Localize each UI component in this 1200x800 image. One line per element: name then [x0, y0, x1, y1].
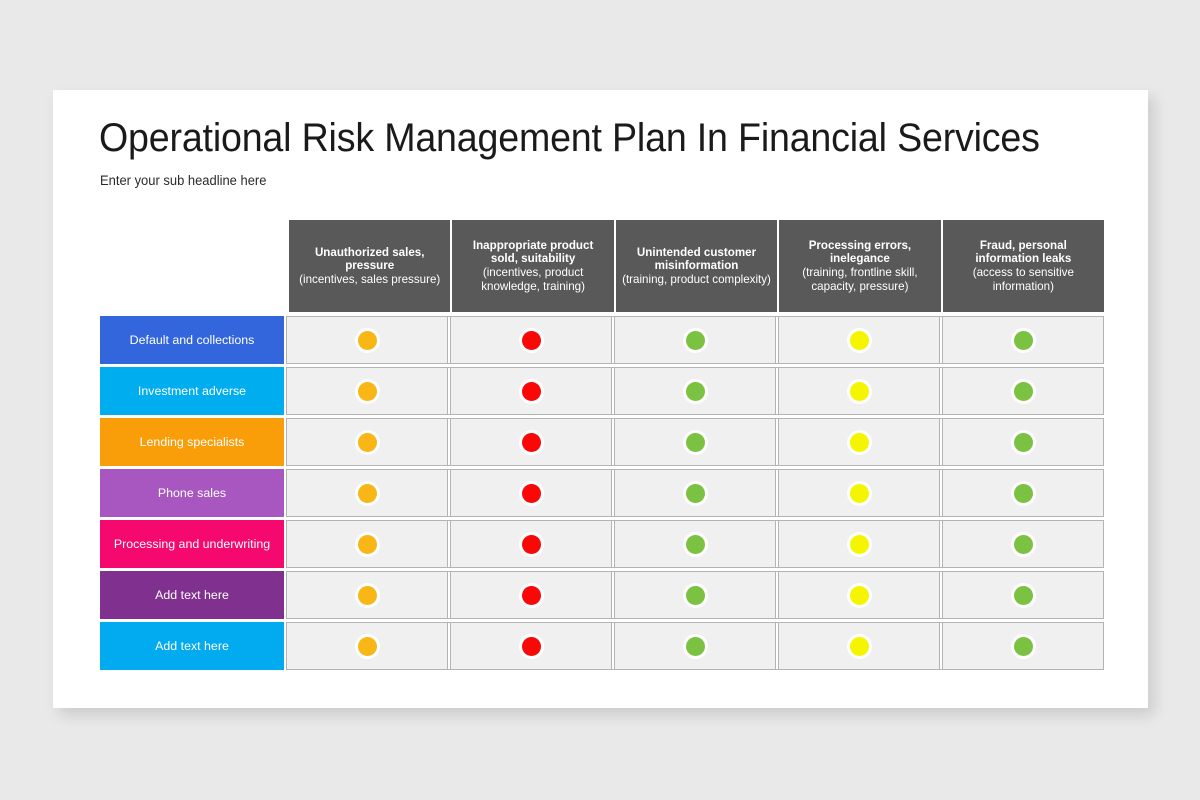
rating-cell[interactable] [778, 623, 940, 669]
rating-cell[interactable] [450, 368, 612, 414]
column-header-4: Processing errors, inelegance(training, … [779, 220, 940, 312]
rating-cell[interactable] [942, 419, 1104, 465]
row-label-5[interactable]: Processing and underwriting [100, 520, 284, 568]
status-dot-amber-icon [358, 433, 377, 452]
status-dot-yellow-icon [850, 433, 869, 452]
column-header-3: Unintended customer misinformation(train… [616, 220, 777, 312]
status-dot-amber-icon [358, 535, 377, 554]
rating-cell[interactable] [778, 572, 940, 618]
rating-cell[interactable] [942, 470, 1104, 516]
row-cells [286, 571, 1104, 619]
status-dot-red-icon [522, 484, 541, 503]
status-dot-red-icon [522, 586, 541, 605]
status-dot-amber-icon [358, 586, 377, 605]
rating-cell[interactable] [286, 368, 448, 414]
rating-cell[interactable] [286, 623, 448, 669]
status-dot-green-icon [1014, 382, 1033, 401]
status-dot-red-icon [522, 637, 541, 656]
rating-cell[interactable] [942, 572, 1104, 618]
status-dot-green-icon [686, 586, 705, 605]
rating-cell[interactable] [614, 470, 776, 516]
status-dot-amber-icon [358, 637, 377, 656]
rating-cell[interactable] [286, 470, 448, 516]
row-cells [286, 469, 1104, 517]
rating-cell[interactable] [778, 521, 940, 567]
status-dot-amber-icon [358, 331, 377, 350]
rating-cell[interactable] [614, 623, 776, 669]
rating-cell[interactable] [450, 317, 612, 363]
rating-cell[interactable] [614, 317, 776, 363]
rating-cell[interactable] [614, 572, 776, 618]
rating-cell[interactable] [778, 317, 940, 363]
rating-cell[interactable] [450, 521, 612, 567]
row-cells [286, 367, 1104, 415]
rating-cell[interactable] [286, 521, 448, 567]
table-row: Add text here [100, 571, 1104, 619]
status-dot-green-icon [686, 433, 705, 452]
row-cells [286, 418, 1104, 466]
table-row: Add text here [100, 622, 1104, 670]
table-row: Investment adverse [100, 367, 1104, 415]
row-label-6[interactable]: Add text here [100, 571, 284, 619]
rating-cell[interactable] [942, 623, 1104, 669]
matrix-body: Default and collectionsInvestment advers… [100, 316, 1104, 670]
status-dot-green-icon [1014, 331, 1033, 350]
status-dot-green-icon [1014, 433, 1033, 452]
row-cells [286, 316, 1104, 364]
status-dot-green-icon [1014, 484, 1033, 503]
status-dot-green-icon [686, 637, 705, 656]
status-dot-amber-icon [358, 484, 377, 503]
column-header-title: Unintended customer misinformation [622, 246, 771, 273]
status-dot-green-icon [1014, 637, 1033, 656]
rating-cell[interactable] [450, 470, 612, 516]
rating-cell[interactable] [614, 368, 776, 414]
rating-cell[interactable] [778, 368, 940, 414]
status-dot-amber-icon [358, 382, 377, 401]
rating-cell[interactable] [614, 419, 776, 465]
column-header-detail: (training, frontline skill, capacity, pr… [785, 266, 934, 293]
status-dot-yellow-icon [850, 382, 869, 401]
page-title: Operational Risk Management Plan In Fina… [99, 115, 1048, 161]
status-dot-yellow-icon [850, 331, 869, 350]
row-label-1[interactable]: Default and collections [100, 316, 284, 364]
rating-cell[interactable] [286, 419, 448, 465]
column-header-title: Fraud, personal information leaks [949, 239, 1098, 266]
rating-cell[interactable] [778, 419, 940, 465]
column-header-detail: (access to sensitive information) [949, 266, 1098, 293]
status-dot-yellow-icon [850, 535, 869, 554]
rating-cell[interactable] [942, 317, 1104, 363]
rating-cell[interactable] [778, 470, 940, 516]
column-header-1: Unauthorized sales, pressure(incentives,… [289, 220, 450, 312]
column-header-2: Inappropriate product sold, suitability(… [452, 220, 613, 312]
column-header-title: Unauthorized sales, pressure [295, 246, 444, 273]
row-label-3[interactable]: Lending specialists [100, 418, 284, 466]
status-dot-red-icon [522, 535, 541, 554]
column-header-title: Processing errors, inelegance [785, 239, 934, 266]
rating-cell[interactable] [286, 317, 448, 363]
status-dot-green-icon [1014, 535, 1033, 554]
status-dot-red-icon [522, 331, 541, 350]
row-cells [286, 520, 1104, 568]
row-label-4[interactable]: Phone sales [100, 469, 284, 517]
table-row: Default and collections [100, 316, 1104, 364]
rating-cell[interactable] [450, 419, 612, 465]
rating-cell[interactable] [450, 572, 612, 618]
slide-canvas: Operational Risk Management Plan In Fina… [53, 90, 1148, 708]
risk-matrix-table: Unauthorized sales, pressure(incentives,… [100, 220, 1104, 670]
rating-cell[interactable] [942, 368, 1104, 414]
status-dot-yellow-icon [850, 586, 869, 605]
rating-cell[interactable] [942, 521, 1104, 567]
rating-cell[interactable] [614, 521, 776, 567]
table-row: Phone sales [100, 469, 1104, 517]
status-dot-green-icon [686, 484, 705, 503]
status-dot-red-icon [522, 433, 541, 452]
rating-cell[interactable] [286, 572, 448, 618]
table-row: Processing and underwriting [100, 520, 1104, 568]
status-dot-yellow-icon [850, 484, 869, 503]
status-dot-green-icon [686, 382, 705, 401]
row-cells [286, 622, 1104, 670]
status-dot-red-icon [522, 382, 541, 401]
status-dot-yellow-icon [850, 637, 869, 656]
status-dot-green-icon [686, 331, 705, 350]
column-header-detail: (incentives, product knowledge, training… [458, 266, 607, 293]
column-header-detail: (incentives, sales pressure) [299, 273, 440, 287]
matrix-header-row: Unauthorized sales, pressure(incentives,… [289, 220, 1104, 312]
status-dot-green-icon [686, 535, 705, 554]
column-header-5: Fraud, personal information leaks(access… [943, 220, 1104, 312]
row-label-2[interactable]: Investment adverse [100, 367, 284, 415]
page-subtitle: Enter your sub headline here [100, 173, 266, 188]
table-row: Lending specialists [100, 418, 1104, 466]
column-header-detail: (training, product complexity) [622, 273, 771, 287]
row-label-7[interactable]: Add text here [100, 622, 284, 670]
column-header-title: Inappropriate product sold, suitability [458, 239, 607, 266]
status-dot-green-icon [1014, 586, 1033, 605]
rating-cell[interactable] [450, 623, 612, 669]
